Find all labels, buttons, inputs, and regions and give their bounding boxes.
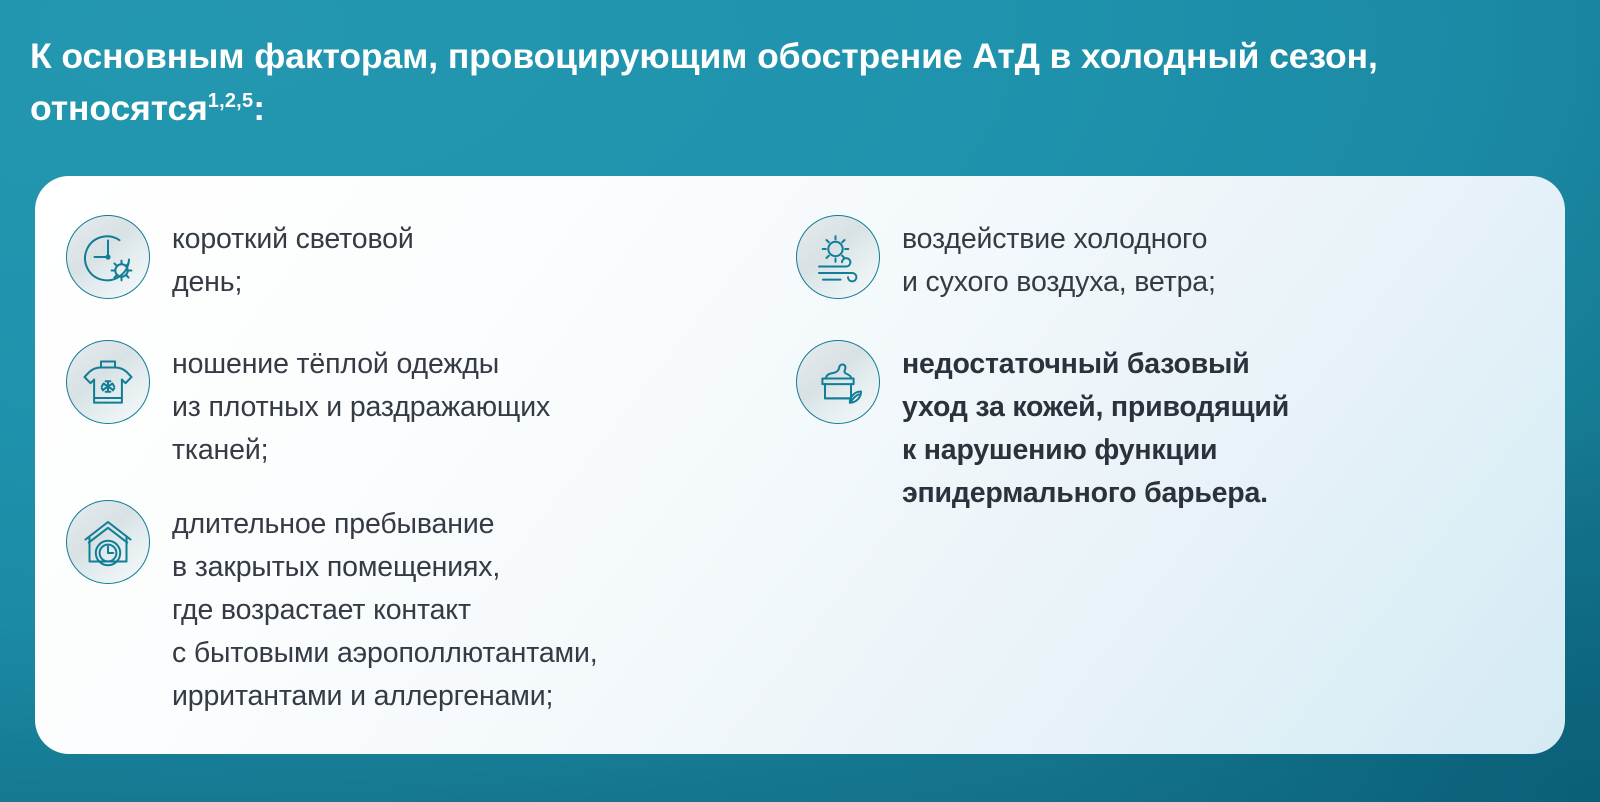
sun-wind-icon [796,215,880,299]
factor-text-indoor-time: длительное пребывание в закрытых помещен… [172,498,598,718]
page-title-main: К основным факторам, провоцирующим обост… [30,36,1378,128]
factor-text-short-daylight: короткий световой день; [172,213,414,304]
page-title: К основным факторам, провоцирующим обост… [30,30,1460,134]
clock-sun-icon [66,215,150,299]
factor-text-warm-clothing: ношение тёплой одежды из плотных и раздр… [172,338,550,472]
factor-item-warm-clothing: ношение тёплой одежды из плотных и раздр… [66,338,550,472]
factors-columns: короткий световой день; ношение тёплой [35,176,1565,754]
header: К основным факторам, провоцирующим обост… [30,30,1460,134]
factors-card: короткий световой день; ношение тёплой [35,176,1565,754]
factor-text-cold-air: воздействие холодного и сухого воздуха, … [902,213,1216,304]
right-column: воздействие холодного и сухого воздуха, … [770,176,1565,754]
factor-item-indoor-time: длительное пребывание в закрытых помещен… [66,498,598,718]
sweater-snowflake-icon [66,340,150,424]
factor-item-cold-air: воздействие холодного и сухого воздуха, … [796,213,1216,304]
page-title-references: 1,2,5 [208,90,253,112]
left-column: короткий световой день; ношение тёплой [35,176,770,754]
factor-item-insufficient-skincare: недостаточный базовый уход за кожей, при… [796,338,1289,515]
factor-item-short-daylight: короткий световой день; [66,213,414,304]
page-title-suffix: : [253,88,265,128]
factor-text-insufficient-skincare: недостаточный базовый уход за кожей, при… [902,338,1289,515]
cream-jar-leaf-icon [796,340,880,424]
house-clock-icon [66,500,150,584]
